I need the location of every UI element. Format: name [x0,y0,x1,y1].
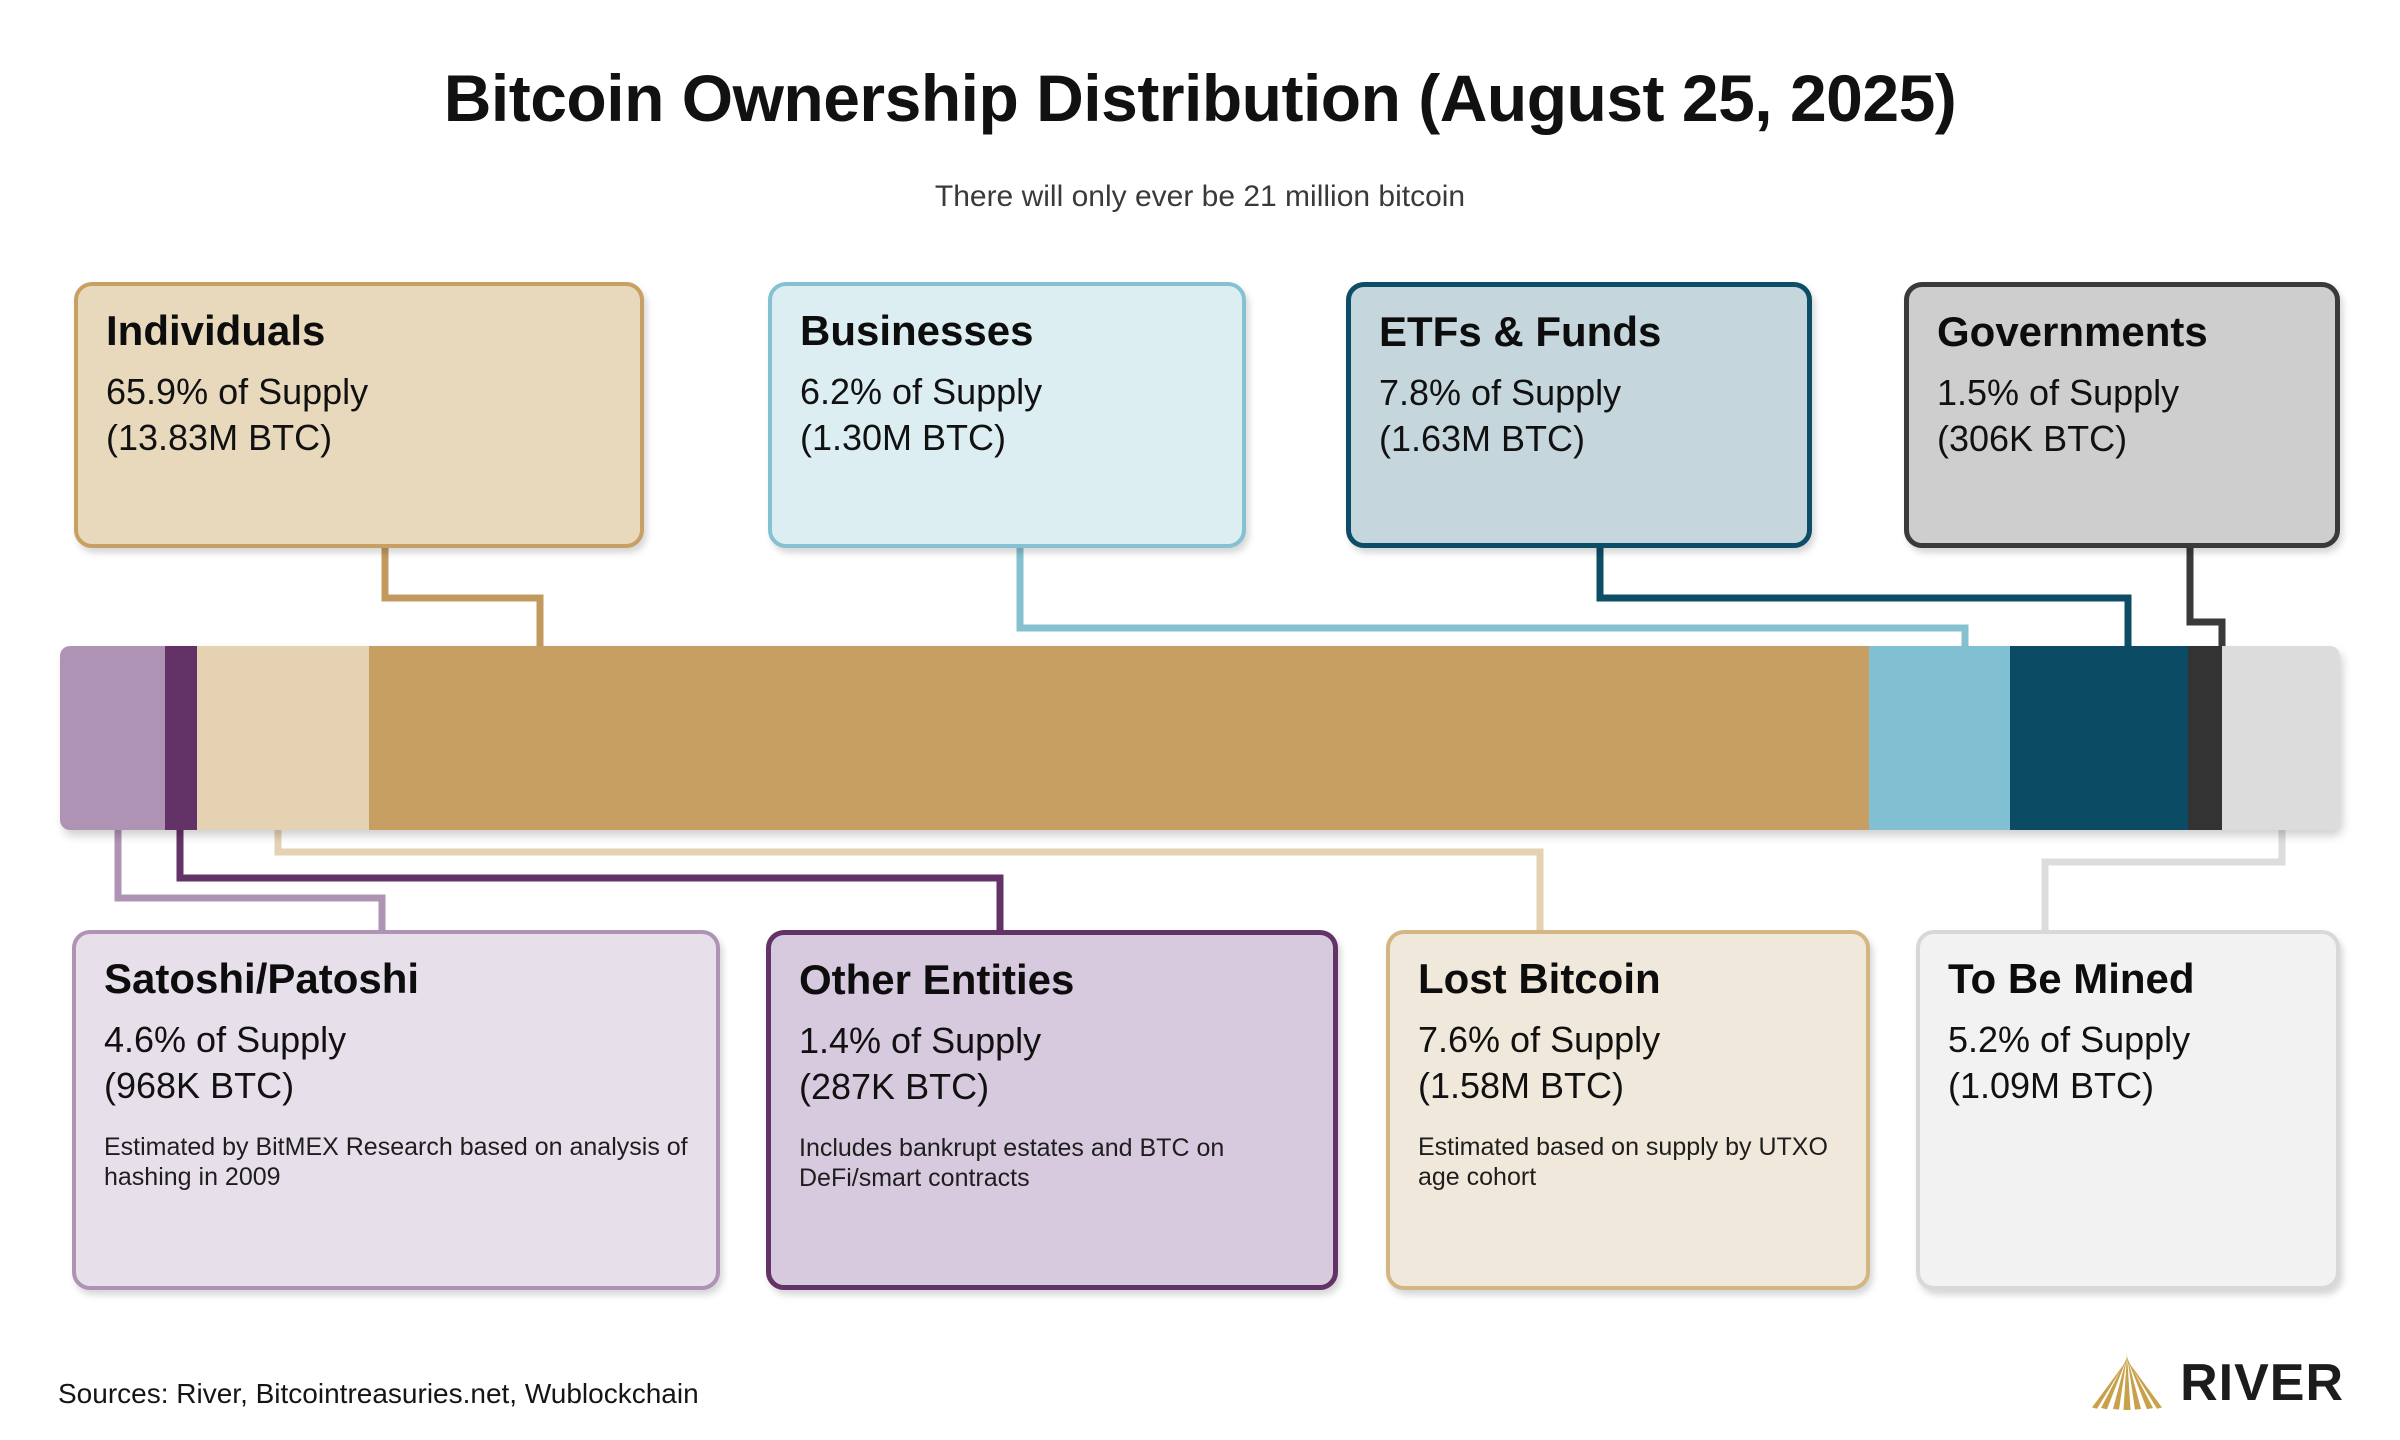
card-individuals[interactable]: Individuals 65.9% of Supply (13.83M BTC) [74,282,644,548]
bar-segment-lost-bitcoin[interactable] [197,646,370,830]
card-title: Governments [1937,309,2307,354]
card-stat-pct: 6.2% of Supply [800,369,1214,415]
bar-segment-individuals[interactable] [369,646,1869,830]
card-etfs-funds[interactable]: ETFs & Funds 7.8% of Supply (1.63M BTC) [1346,282,1812,548]
bar-segment-to-be-mined[interactable] [2222,646,2340,830]
card-governments[interactable]: Governments 1.5% of Supply (306K BTC) [1904,282,2340,548]
bar-segment-governments[interactable] [2188,646,2222,830]
card-stat-pct: 4.6% of Supply [104,1017,688,1063]
supply-distribution-bar[interactable] [60,646,2340,830]
card-stat: 1.4% of Supply (287K BTC) [799,1018,1305,1110]
card-note: Includes bankrupt estates and BTC on DeF… [799,1133,1305,1194]
card-other-entities[interactable]: Other Entities 1.4% of Supply (287K BTC)… [766,930,1338,1290]
card-stat-btc: (1.30M BTC) [800,415,1214,461]
card-stat-pct: 5.2% of Supply [1948,1017,2308,1063]
card-to-be-mined[interactable]: To Be Mined 5.2% of Supply (1.09M BTC) [1916,930,2340,1290]
card-title: Lost Bitcoin [1418,956,1838,1001]
card-stat-pct: 7.8% of Supply [1379,370,1779,416]
card-stat: 5.2% of Supply (1.09M BTC) [1948,1017,2308,1109]
card-stat-btc: (968K BTC) [104,1063,688,1109]
card-title: Satoshi/Patoshi [104,956,688,1001]
card-stat-btc: (1.63M BTC) [1379,416,1779,462]
card-stat-btc: (1.58M BTC) [1418,1063,1838,1109]
card-stat: 65.9% of Supply (13.83M BTC) [106,369,612,461]
card-stat-btc: (287K BTC) [799,1064,1305,1110]
card-stat: 7.8% of Supply (1.63M BTC) [1379,370,1779,462]
card-stat-pct: 1.5% of Supply [1937,370,2307,416]
card-title: Other Entities [799,957,1305,1002]
bar-segment-other-entities[interactable] [165,646,197,830]
card-title: Businesses [800,308,1214,353]
card-title: To Be Mined [1948,956,2308,1001]
card-note: Estimated based on supply by UTXO age co… [1418,1132,1838,1193]
card-stat-pct: 1.4% of Supply [799,1018,1305,1064]
card-stat-btc: (13.83M BTC) [106,415,612,461]
card-stat: 1.5% of Supply (306K BTC) [1937,370,2307,462]
card-title: ETFs & Funds [1379,309,1779,354]
card-stat-pct: 65.9% of Supply [106,369,612,415]
card-stat-btc: (306K BTC) [1937,416,2307,462]
card-stat: 7.6% of Supply (1.58M BTC) [1418,1017,1838,1109]
card-stat: 4.6% of Supply (968K BTC) [104,1017,688,1109]
card-businesses[interactable]: Businesses 6.2% of Supply (1.30M BTC) [768,282,1246,548]
card-stat-pct: 7.6% of Supply [1418,1017,1838,1063]
card-lost-bitcoin[interactable]: Lost Bitcoin 7.6% of Supply (1.58M BTC) … [1386,930,1870,1290]
card-satoshi-patoshi[interactable]: Satoshi/Patoshi 4.6% of Supply (968K BTC… [72,930,720,1290]
bar-segment-satoshi-patoshi[interactable] [60,646,165,830]
bar-segment-businesses[interactable] [1869,646,2010,830]
infographic-canvas: Bitcoin Ownership Distribution (August 2… [0,0,2400,1440]
card-title: Individuals [106,308,612,353]
card-note: Estimated by BitMEX Research based on an… [104,1132,688,1193]
card-stat: 6.2% of Supply (1.30M BTC) [800,369,1214,461]
card-stat-btc: (1.09M BTC) [1948,1063,2308,1109]
bar-segment-etfs-funds[interactable] [2010,646,2187,830]
